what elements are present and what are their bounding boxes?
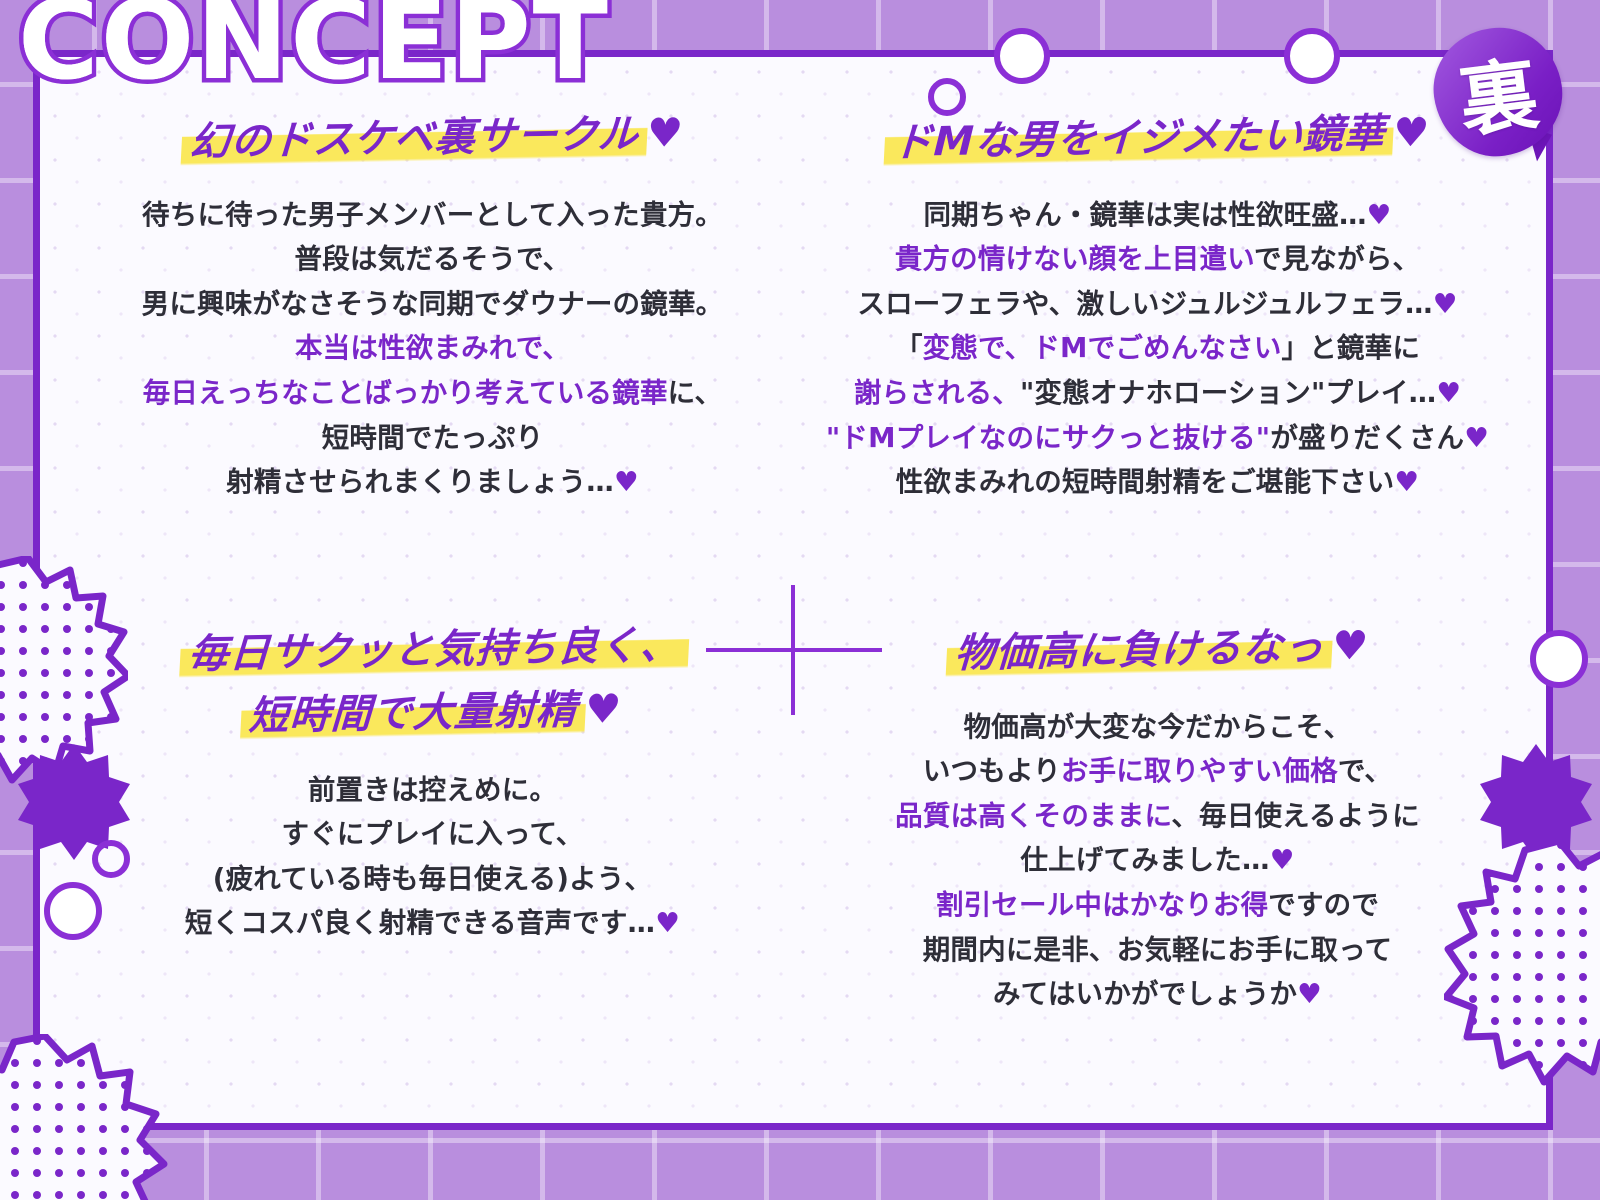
body-text: が盛りだくさん: [1270, 422, 1464, 454]
emphasis-text: 品質は高くそのままに: [895, 800, 1171, 832]
heading-heart-icon: ♥: [645, 110, 684, 157]
body-text: スローフェラや、激しいジュルジュルフェラ…: [857, 288, 1432, 320]
heart-icon: ♥: [614, 466, 639, 498]
body-line: 射精させられまくりましょう…♥: [142, 460, 724, 505]
body-text: で見ながら、: [1254, 243, 1420, 275]
body-text: "変態オナホローション"プレイ…: [1020, 377, 1436, 409]
body-text: 仕上げてみました…: [1020, 844, 1269, 876]
body-line: 短くコスパ良く射精できる音声です…♥: [185, 901, 680, 946]
body-text: すぐにプレイに入って、: [282, 818, 584, 850]
heart-icon: ♥: [655, 907, 680, 939]
section-heading: 毎日サクッと気持ち良く、 短時間で大量射精♥: [175, 617, 690, 746]
section-body: 待ちに待った男子メンバーとして入った貴方。普段は気だるそうで、男に興味がなさそう…: [142, 193, 724, 505]
heart-icon: ♥: [1464, 422, 1489, 454]
page-title: CONCEPT: [18, 0, 610, 104]
body-line: スローフェラや、激しいジュルジュルフェラ…♥: [826, 282, 1489, 327]
divider-horizontal: [706, 648, 882, 652]
frame-circle-top-2: [1284, 28, 1340, 84]
body-text: ですので: [1268, 889, 1379, 921]
ura-badge: 裏: [1434, 28, 1562, 156]
heart-icon: ♥: [1270, 844, 1295, 876]
frame-circle-right-1: [1530, 630, 1588, 688]
heart-icon: ♥: [1394, 466, 1419, 498]
emphasis-text: 変態で、ドMでごめんなさい: [923, 332, 1282, 364]
body-text: 射精させられまくりましょう…: [226, 466, 614, 498]
heading-heart-icon: ♥: [1331, 623, 1370, 670]
emphasis-text: "ドMプレイなのにサクっと抜ける": [826, 422, 1270, 454]
frame-circle-small-top: [928, 78, 966, 116]
body-line: すぐにプレイに入って、: [185, 812, 680, 857]
emphasis-text: 謝らされる、: [854, 377, 1020, 409]
emphasis-text: 割引セール中はかなりお得: [936, 889, 1268, 921]
badge-label: 裏: [1427, 21, 1570, 164]
frame-circle-top-1: [994, 28, 1050, 84]
heading-text-line1: 毎日サクッと気持ち良く、: [179, 622, 690, 678]
body-text: 物価高が大変な今だからこそ、: [964, 711, 1352, 743]
body-line: 短時間でたっぷり: [142, 416, 724, 461]
heart-icon: ♥: [1433, 288, 1458, 320]
section-hidden-circle: 幻のドスケベ裏サークル♥ 待ちに待った男子メンバーとして入った貴方。普段は気だる…: [70, 110, 795, 600]
body-line: 仕上げてみました…♥: [895, 838, 1420, 883]
heart-icon: ♥: [1297, 978, 1322, 1010]
body-text: に、: [668, 377, 723, 409]
section-daily-quick: 毎日サクッと気持ち良く、 短時間で大量射精♥ 前置きは控えめに。すぐにプレイに入…: [70, 600, 795, 1090]
emphasis-text: 本当は性欲まみれで、: [295, 332, 570, 364]
section-body: 同期ちゃん・鏡華は実は性欲旺盛…♥貴方の情けない顔を上目遣いで見ながら、スローフ…: [826, 193, 1489, 505]
heading-text: ドMな男をイジメたい鏡華: [884, 110, 1395, 166]
section-heading: 物価高に負けるなっ♥: [945, 618, 1370, 683]
body-text: 普段は気だるそうで、: [295, 243, 571, 275]
body-line: 品質は高くそのままに、毎日使えるように: [895, 794, 1420, 839]
body-line: 毎日えっちなことばっかり考えている鏡華に、: [142, 371, 724, 416]
body-text: みてはいかがでしょうか: [993, 978, 1297, 1010]
body-line: 物価高が大変な今だからこそ、: [895, 705, 1420, 750]
emphasis-text: お手に取りやすい価格: [1061, 755, 1338, 787]
body-text: (疲れている時も毎日使える)よう、: [213, 863, 652, 895]
body-line: 同期ちゃん・鏡華は実は性欲旺盛…♥: [826, 193, 1489, 238]
frame-circle-small-left: [92, 840, 130, 878]
body-line: 「変態で、ドMでごめんなさい」と鏡華に: [826, 326, 1489, 371]
concept-page: CONCEPT CONCEPT 裏 幻のドスケベ裏サークル♥ 待ちに待った男子メ…: [0, 0, 1600, 1200]
body-text: で、: [1338, 755, 1392, 787]
body-line: 性欲まみれの短時間射精をご堪能下さい♥: [826, 460, 1489, 505]
body-text: 短くコスパ良く射精できる音声です…: [185, 907, 655, 939]
heart-icon: ♥: [1367, 199, 1392, 231]
heading-text-line2: 短時間で大量射精: [239, 687, 586, 740]
emphasis-text: 毎日えっちなことばっかり考えている鏡華: [143, 377, 668, 409]
emphasis-text: 貴方の情けない顔を上目遣い: [895, 243, 1254, 275]
body-text: 、毎日使えるように: [1171, 800, 1419, 832]
heading-text: 幻のドスケベ裏サークル: [180, 111, 647, 166]
body-text: 期間内に是非、お気軽にお手に取って: [923, 934, 1393, 966]
section-heading: 幻のドスケベ裏サークル♥: [180, 105, 685, 171]
heading-heart-icon: ♥: [584, 686, 623, 733]
section-body: 前置きは控えめに。すぐにプレイに入って、(疲れている時も毎日使える)よう、短くコ…: [185, 768, 680, 946]
body-line: 割引セール中はかなりお得ですので: [895, 883, 1420, 928]
section-price: 物価高に負けるなっ♥ 物価高が大変な今だからこそ、いつもよりお手に取りやすい価格…: [795, 600, 1520, 1090]
body-line: 謝らされる、"変態オナホローション"プレイ…♥: [826, 371, 1489, 416]
body-text: 待ちに待った男子メンバーとして入った貴方。: [142, 199, 723, 231]
body-text: 」と鏡華に: [1282, 332, 1421, 364]
body-line: 待ちに待った男子メンバーとして入った貴方。: [142, 193, 724, 238]
body-line: "ドMプレイなのにサクっと抜ける"が盛りだくさん♥: [826, 416, 1489, 461]
body-text: 前置きは控えめに。: [308, 774, 557, 806]
body-line: 期間内に是非、お気軽にお手に取って: [895, 928, 1420, 973]
section-heading: ドMな男をイジメたい鏡華♥: [883, 105, 1431, 172]
body-line: いつもよりお手に取りやすい価格で、: [895, 749, 1420, 794]
body-line: 男に興味がなさそうな同期でダウナーの鏡華。: [142, 282, 724, 327]
body-line: 普段は気だるそうで、: [142, 237, 724, 282]
frame-circle-left-1: [44, 882, 102, 940]
starburst-dotted-bottom-left: [0, 1034, 170, 1200]
section-body: 物価高が大変な今だからこそ、いつもよりお手に取りやすい価格で、品質は高くそのまま…: [895, 705, 1420, 1017]
body-line: 前置きは控えめに。: [185, 768, 680, 813]
body-text: 「: [895, 332, 923, 364]
heading-heart-icon: ♥: [1392, 110, 1431, 157]
heart-icon: ♥: [1436, 377, 1461, 409]
heading-text: 物価高に負けるなっ: [945, 624, 1333, 677]
section-dom-kyouka: ドMな男をイジメたい鏡華♥ 同期ちゃん・鏡華は実は性欲旺盛…♥貴方の情けない顔を…: [795, 110, 1520, 600]
concept-grid: 幻のドスケベ裏サークル♥ 待ちに待った男子メンバーとして入った貴方。普段は気だる…: [70, 110, 1520, 1090]
starburst-dotted-right: [1444, 838, 1600, 1088]
body-line: 貴方の情けない顔を上目遣いで見ながら、: [826, 237, 1489, 282]
body-text: 男に興味がなさそうな同期でダウナーの鏡華。: [142, 288, 724, 320]
body-text: 性欲まみれの短時間射精をご堪能下さい: [896, 466, 1395, 498]
body-text: 短時間でたっぷり: [322, 422, 544, 454]
body-line: 本当は性欲まみれで、: [142, 326, 724, 371]
body-text: 同期ちゃん・鏡華は実は性欲旺盛…: [923, 199, 1366, 231]
body-line: みてはいかがでしょうか♥: [895, 972, 1420, 1017]
body-text: いつもより: [923, 755, 1061, 787]
body-line: (疲れている時も毎日使える)よう、: [185, 857, 680, 902]
